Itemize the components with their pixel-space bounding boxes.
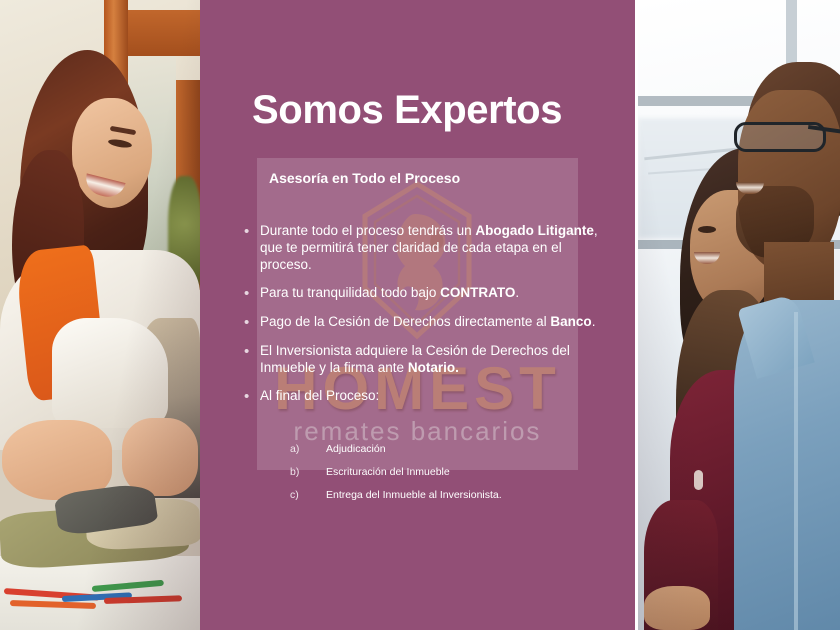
bullet-text: El Inversionista adquiere la Cesión de D… [260,342,616,376]
sub-item-label: a) [290,442,326,456]
panel-heading: Asesoría en Todo el Proceso [269,170,460,186]
bullet-marker: • [244,222,260,273]
sub-item-text: Adjudicación [326,442,620,456]
sub-item: c)Entrega del Inmueble al Inversionista. [290,488,620,502]
bullet-text-plain: Durante todo el proceso tendrás un [260,223,475,238]
couple-window-photo [638,0,840,630]
sub-item-list: a)Adjudicaciónb)Escrituración del Inmueb… [290,442,620,511]
bullet-item: •Para tu tranquilidad todo bajo CONTRATO… [244,284,616,302]
page-title: Somos Expertos [252,88,562,133]
sub-item: a)Adjudicación [290,442,620,456]
photo-edge-shadow [0,0,200,630]
slide-canvas: Somos Expertos HOMEST remates bancarios … [0,0,840,630]
bullet-text-plain: . [592,314,596,329]
bullet-list: •Durante todo el proceso tendrás un Abog… [244,222,616,416]
bullet-marker: • [244,342,260,376]
woman-designer-photo [0,0,200,630]
photo-edge-shadow [638,0,840,630]
bullet-text-plain: Al final del Proceso: [260,388,379,403]
bullet-text: Para tu tranquilidad todo bajo CONTRATO. [260,284,616,302]
bullet-item: •Al final del Proceso: [244,387,616,405]
bullet-text: Durante todo el proceso tendrás un Aboga… [260,222,616,273]
bullet-marker: • [244,387,260,405]
bullet-text-bold: CONTRATO [440,285,515,300]
bullet-text-bold: Banco [550,314,591,329]
bullet-marker: • [244,284,260,302]
sub-item-text: Entrega del Inmueble al Inversionista. [326,488,620,502]
bullet-text: Pago de la Cesión de Derechos directamen… [260,313,616,331]
bullet-item: •Pago de la Cesión de Derechos directame… [244,313,616,331]
bullet-text: Al final del Proceso: [260,387,616,405]
bullet-text-plain: Para tu tranquilidad todo bajo [260,285,440,300]
bullet-text-bold: Abogado Litigante [475,223,594,238]
sub-item-label: c) [290,488,326,502]
bullet-text-plain: . [515,285,519,300]
sub-item-label: b) [290,465,326,479]
bullet-item: •El Inversionista adquiere la Cesión de … [244,342,616,376]
sub-item: b)Escrituración del Inmueble [290,465,620,479]
bullet-text-bold: Notario. [408,360,459,375]
sub-item-text: Escrituración del Inmueble [326,465,620,479]
bullet-item: •Durante todo el proceso tendrás un Abog… [244,222,616,273]
bullet-text-plain: Pago de la Cesión de Derechos directamen… [260,314,550,329]
bullet-marker: • [244,313,260,331]
